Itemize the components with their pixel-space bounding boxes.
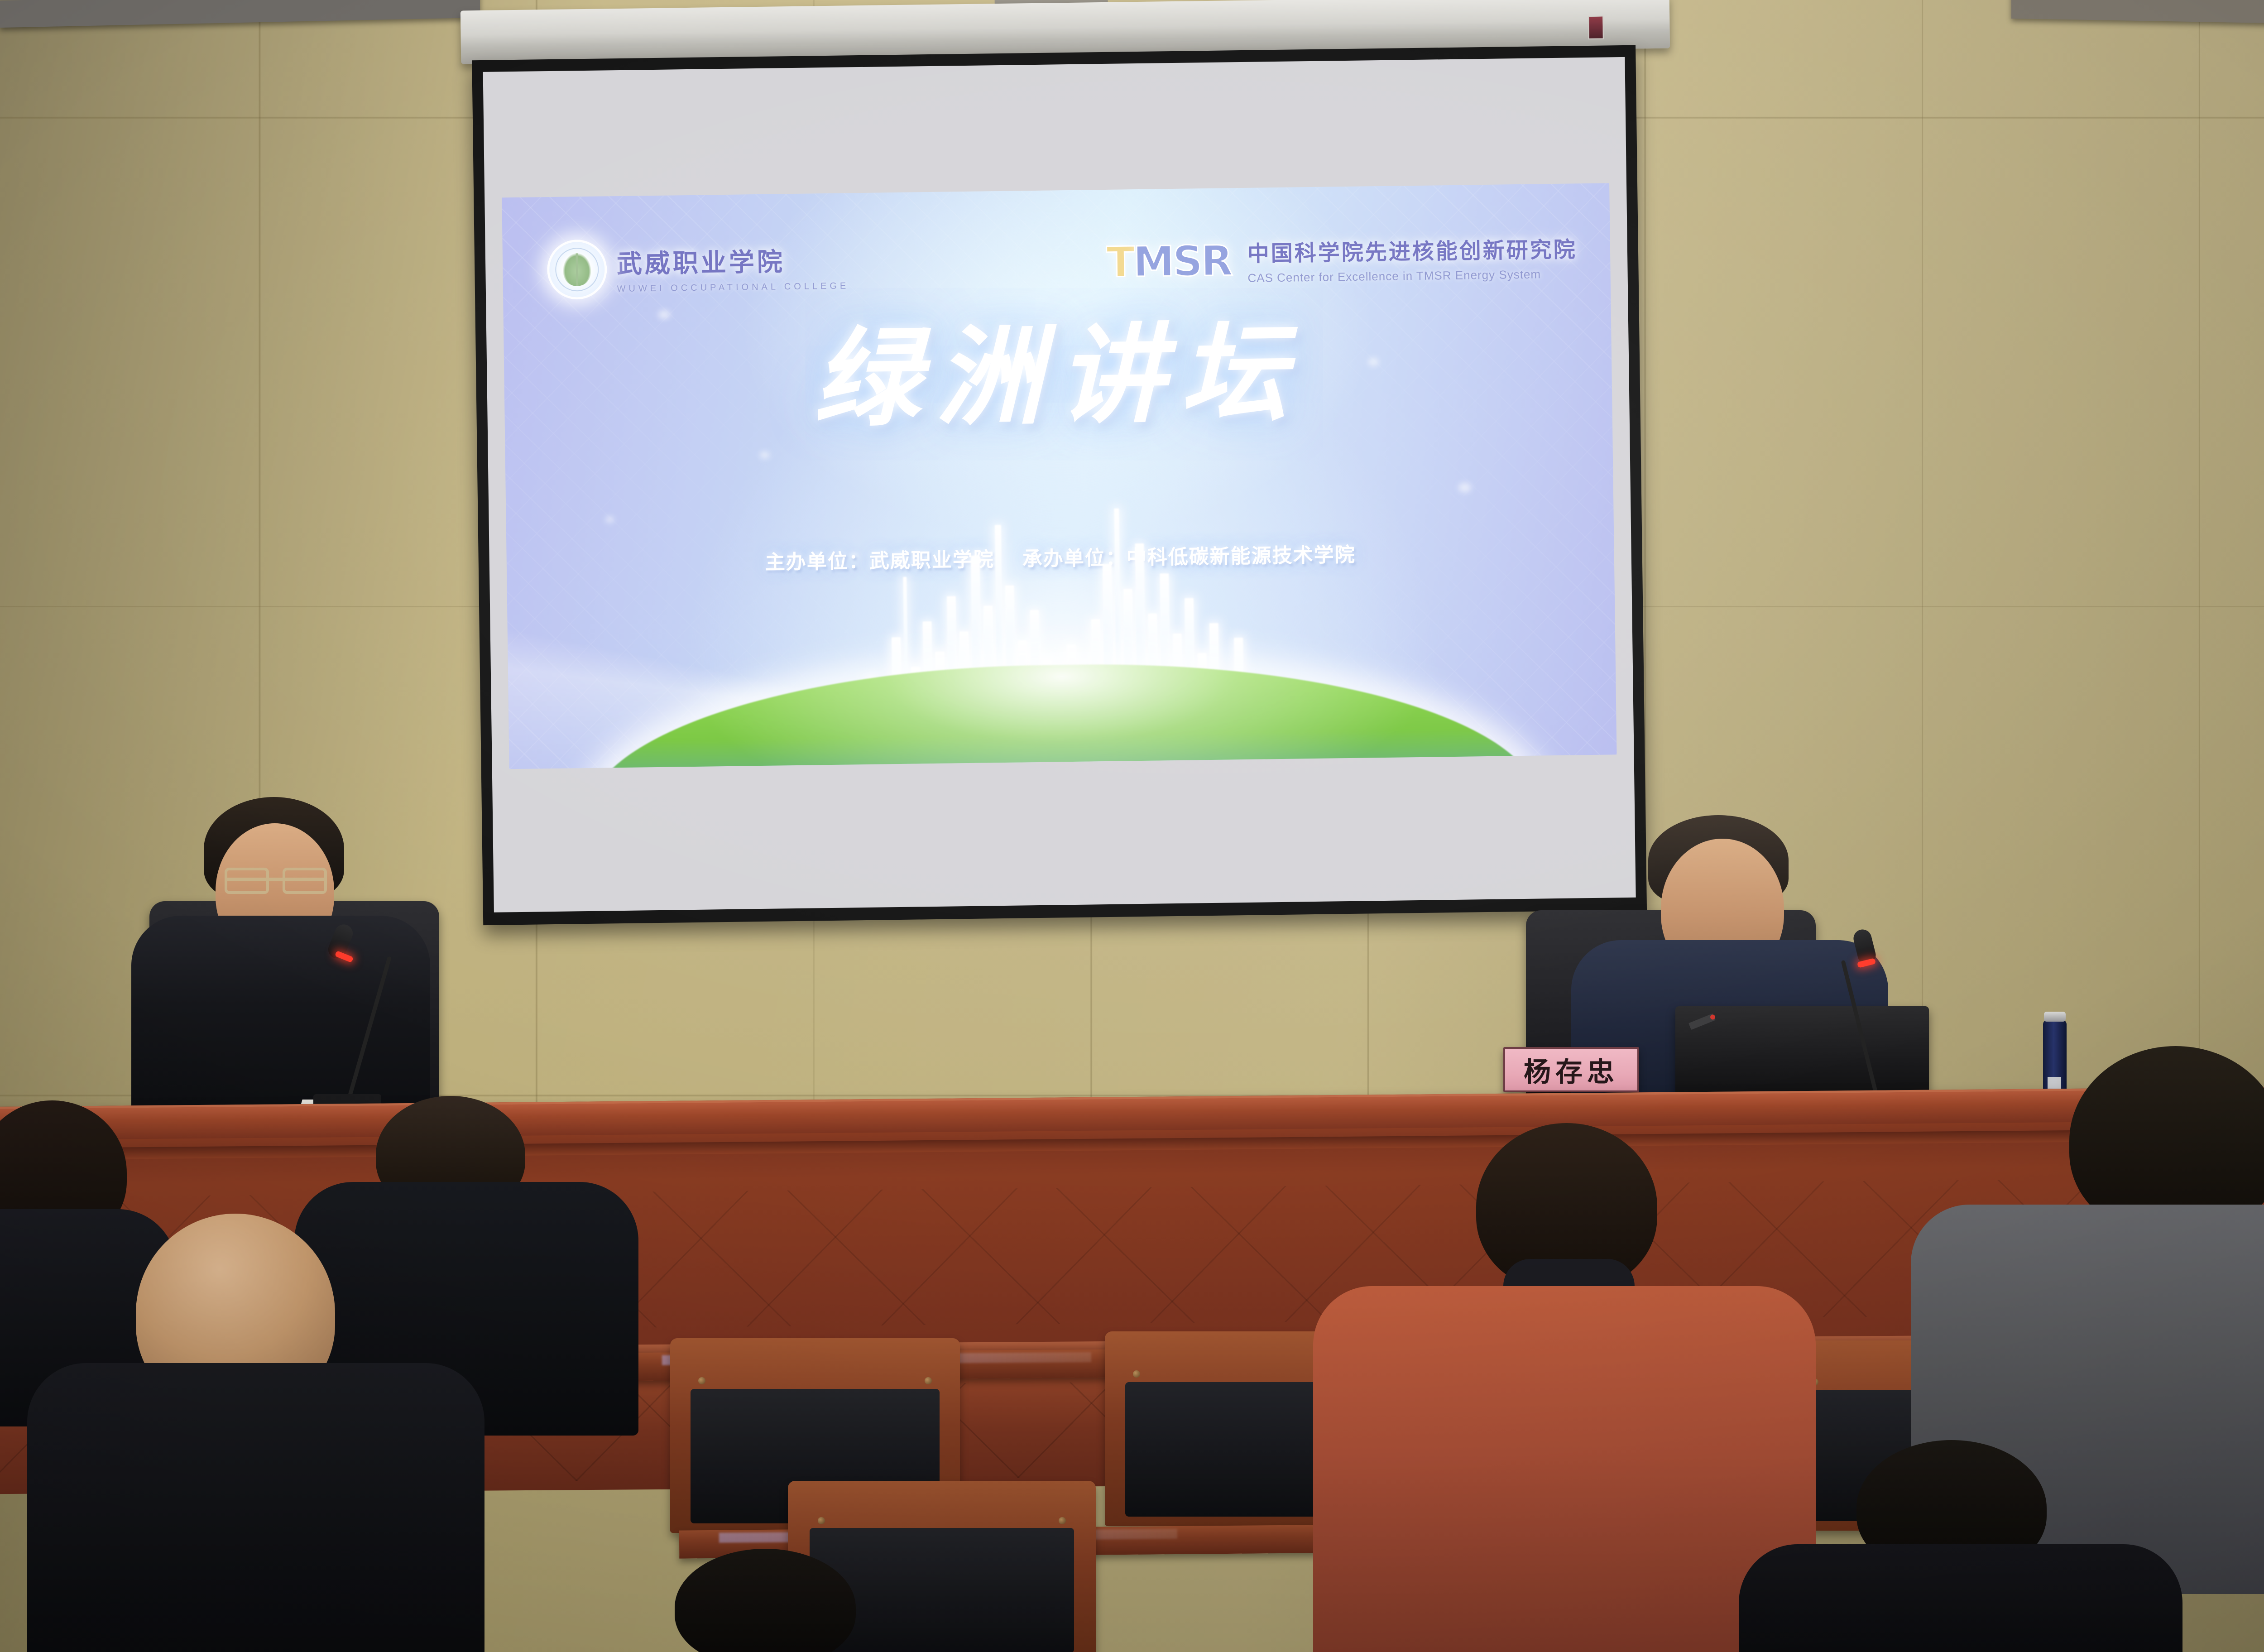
lecture-hall-scene: 武威职业学院 WUWEI OCCUPATIONAL COLLEGE TMSR 中… (0, 0, 2264, 1652)
photo-vignette (0, 0, 2264, 1652)
